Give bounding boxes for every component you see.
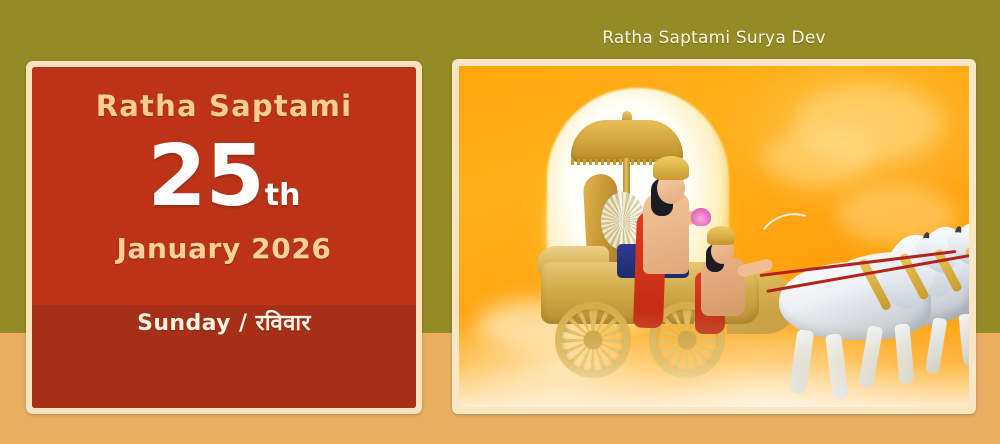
surya-crown-icon [653,156,689,180]
image-caption: Ratha Saptami Surya Dev [452,28,976,48]
page-root: Ratha Saptami Surya Dev Ratha Saptami 25… [0,0,1000,444]
chariot-scene [459,66,969,407]
horse-leg [958,313,969,366]
day-ordinal-suffix: th [265,178,301,213]
horse-leg [789,329,815,395]
horse-leg [894,323,914,384]
charioteer-crown-icon [707,226,735,245]
festival-name: Ratha Saptami [96,89,352,123]
date-card-content: Ratha Saptami 25 th January 2026 Sunday … [32,67,416,408]
weekday-label: Sunday / रविवार [137,307,311,337]
surya-dev-chariot-illustration [459,66,969,407]
festival-image-card [452,59,976,414]
month-year: January 2026 [116,232,331,265]
day-number: 25 [148,137,264,218]
horse-leg [925,317,948,375]
chariot-wheel [555,302,631,378]
festival-date-card: Ratha Saptami 25 th January 2026 Sunday … [26,61,422,414]
lotus-flower-icon [691,208,711,226]
date-card-inner-panel: Ratha Saptami 25 th January 2026 Sunday … [32,67,416,408]
charioteer-whip [754,206,825,266]
horse-leg [825,333,849,400]
day-number-row: 25 th [148,137,301,218]
